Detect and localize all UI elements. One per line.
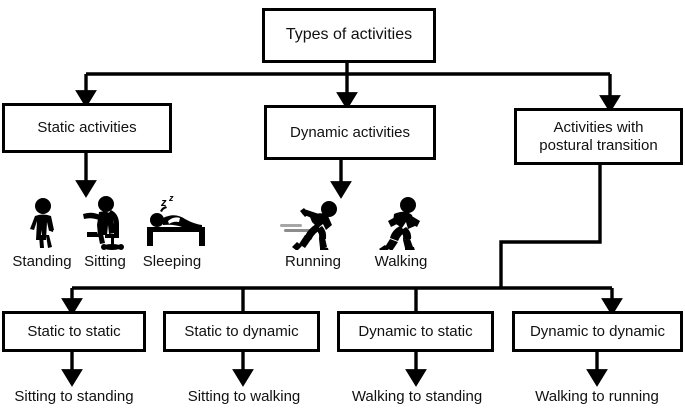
node-activities-postural-transition-label: Activities with postural transition (535, 119, 661, 154)
node-static-to-static-label: Static to static (23, 323, 124, 341)
node-dynamic-to-static[interactable]: Dynamic to static (337, 311, 494, 352)
caption-walking-to-running-label: Walking to running (535, 388, 659, 405)
caption-walking-to-running: Walking to running (522, 388, 672, 405)
sleeping-person-icon: z z (133, 192, 211, 250)
sitting-person-icon (75, 194, 133, 251)
caption-sitting: Sitting (74, 253, 136, 270)
node-dynamic-to-static-label: Dynamic to static (354, 323, 476, 341)
caption-standing-label: Standing (12, 253, 71, 270)
caption-standing: Standing (0, 253, 84, 270)
standing-person-icon (18, 197, 66, 249)
caption-sitting-to-standing: Sitting to standing (0, 388, 148, 405)
node-static-activities[interactable]: Static activities (2, 103, 172, 153)
caption-sitting-to-standing-label: Sitting to standing (14, 388, 133, 405)
caption-sitting-to-walking: Sitting to walking (173, 388, 315, 405)
caption-walking-to-standing-label: Walking to standing (352, 388, 482, 405)
running-person-icon (278, 196, 346, 250)
caption-walking-label: Walking (375, 253, 428, 270)
node-static-to-dynamic-label: Static to dynamic (180, 323, 302, 341)
node-dynamic-to-dynamic[interactable]: Dynamic to dynamic (512, 311, 683, 352)
node-static-to-dynamic[interactable]: Static to dynamic (163, 311, 320, 352)
caption-running: Running (275, 253, 351, 270)
node-dynamic-activities[interactable]: Dynamic activities (264, 105, 436, 160)
node-static-to-static[interactable]: Static to static (2, 311, 146, 352)
edge-postural-routing (501, 165, 600, 288)
caption-walking-to-standing: Walking to standing (341, 388, 493, 405)
node-dynamic-to-dynamic-label: Dynamic to dynamic (526, 323, 669, 341)
svg-text:z: z (168, 193, 174, 203)
node-dynamic-activities-label: Dynamic activities (286, 124, 414, 142)
caption-walking: Walking (363, 253, 439, 270)
caption-sitting-label: Sitting (84, 253, 126, 270)
caption-sleeping-label: Sleeping (143, 253, 201, 270)
caption-running-label: Running (285, 253, 341, 270)
activity-taxonomy-diagram: Types of activities Static activities Dy… (0, 0, 685, 413)
caption-sitting-to-walking-label: Sitting to walking (188, 388, 301, 405)
node-static-activities-label: Static activities (33, 119, 140, 137)
caption-sleeping: Sleeping (133, 253, 211, 270)
walking-person-icon (376, 195, 428, 250)
node-activities-postural-transition[interactable]: Activities with postural transition (514, 108, 683, 165)
node-types-of-activities-label: Types of activities (282, 26, 416, 45)
node-types-of-activities[interactable]: Types of activities (262, 8, 436, 63)
